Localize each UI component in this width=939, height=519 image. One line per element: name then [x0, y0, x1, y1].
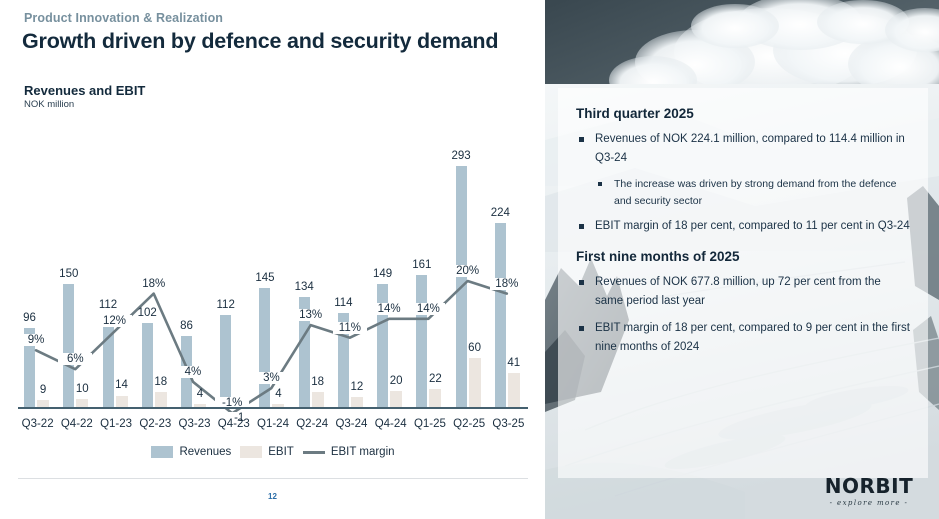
legend-swatch-ebit-margin-icon	[303, 451, 325, 454]
norbit-logo: NORBIT - explore more -	[813, 476, 925, 507]
revenue-bar	[416, 275, 427, 407]
revenue-value-label: 145	[249, 273, 281, 285]
logo-tagline: - explore more -	[813, 499, 925, 507]
chart-unit-label: NOK million	[24, 99, 74, 110]
revenue-value-label: 102	[131, 308, 163, 320]
ebit-value-label: 18	[302, 377, 334, 389]
right-image-pane: Third quarter 2025Revenues of NOK 224.1 …	[545, 0, 939, 519]
legend-item-revenues: Revenues	[151, 446, 231, 458]
ebit-bar	[508, 373, 520, 407]
legend-swatch-revenues-icon	[151, 446, 173, 458]
ebit-margin-label: 3%	[254, 372, 288, 384]
bullet-item: EBIT margin of 18 per cent, compared to …	[576, 319, 910, 356]
revenues-ebit-chart: 9699%150106%1121412%1021818%8644%112-1-1…	[18, 120, 528, 480]
summary-text-panel: Third quarter 2025Revenues of NOK 224.1 …	[558, 88, 928, 478]
bullet-item: Revenues of NOK 224.1 million, compared …	[576, 130, 910, 167]
ebit-bar	[76, 399, 88, 407]
left-content-pane: Product Innovation & Realization Growth …	[0, 0, 545, 519]
sub-bullet-item: The increase was driven by strong demand…	[576, 176, 910, 210]
revenue-value-label: 86	[170, 321, 202, 333]
revenue-bar	[456, 166, 467, 407]
revenue-value-label: 134	[288, 282, 320, 294]
x-axis-tick-q3-24: Q3-24	[329, 418, 373, 430]
page-number: 12	[0, 492, 545, 501]
ebit-margin-label: 20%	[451, 265, 485, 277]
chart-axis-line	[18, 407, 528, 409]
ebit-value-label: 4	[262, 389, 294, 401]
ebit-value-label: 20	[380, 376, 412, 388]
revenue-value-label: 112	[210, 300, 242, 312]
ebit-bar	[351, 397, 363, 407]
chart-plot-area: 9699%150106%1121412%1021818%8644%112-1-1…	[18, 120, 528, 412]
revenue-value-label: 112	[92, 300, 124, 312]
x-axis-tick-q3-23: Q3-23	[173, 418, 217, 430]
chart-x-axis-labels: Q3-22Q4-22Q1-23Q2-23Q3-23Q4-23Q1-24Q2-24…	[18, 418, 528, 436]
revenue-value-label: 150	[53, 269, 85, 281]
revenue-bar	[103, 315, 114, 407]
revenue-value-label: 149	[367, 269, 399, 281]
ebit-value-label: 4	[184, 389, 216, 401]
bullet-item: Revenues of NOK 677.8 million, up 72 per…	[576, 273, 910, 310]
revenue-value-label: 96	[14, 313, 46, 325]
x-axis-tick-q4-24: Q4-24	[369, 418, 413, 430]
ebit-value-label: 9	[27, 385, 59, 397]
revenue-bar	[220, 315, 231, 407]
x-axis-tick-q4-22: Q4-22	[55, 418, 99, 430]
x-axis-tick-q2-25: Q2-25	[447, 418, 491, 430]
x-axis-tick-q4-23: Q4-23	[212, 418, 256, 430]
revenue-bar	[142, 323, 153, 407]
ebit-value-label: 60	[459, 343, 491, 355]
x-axis-tick-q3-22: Q3-22	[16, 418, 60, 430]
x-axis-tick-q2-23: Q2-23	[133, 418, 177, 430]
bullet-list: Revenues of NOK 224.1 million, compared …	[576, 130, 910, 236]
ebit-margin-label: 4%	[176, 366, 210, 378]
ebit-value-label: 22	[419, 374, 451, 386]
legend-label-ebit: EBIT	[268, 446, 294, 458]
legend-item-ebit-margin: EBIT margin	[303, 446, 395, 458]
x-axis-tick-q2-24: Q2-24	[290, 418, 334, 430]
legend-item-ebit: EBIT	[240, 446, 294, 458]
ebit-value-label: 14	[106, 380, 138, 392]
chart-title: Revenues and EBIT	[24, 83, 145, 98]
logo-wordmark: NORBIT	[813, 476, 925, 496]
ebit-value-label: 10	[66, 384, 98, 396]
ebit-margin-label: 12%	[98, 315, 132, 327]
revenue-value-label: 224	[484, 208, 516, 220]
revenue-value-label: 161	[406, 260, 438, 272]
section-heading: First nine months of 2025	[576, 249, 910, 264]
section-heading: Third quarter 2025	[576, 106, 910, 121]
revenue-value-label: 293	[445, 151, 477, 163]
ebit-margin-label: 11%	[333, 322, 367, 334]
ebit-value-label: 41	[498, 358, 530, 370]
ebit-bar	[37, 400, 49, 407]
revenue-value-label: 114	[327, 298, 359, 310]
slide-root: Product Innovation & Realization Growth …	[0, 0, 939, 519]
legend-label-revenues: Revenues	[179, 446, 231, 458]
revenue-bar	[495, 223, 506, 407]
ebit-margin-label: 6%	[58, 353, 92, 365]
chart-legend: Revenues EBIT EBIT margin	[18, 442, 528, 462]
ebit-margin-label: 9%	[19, 334, 53, 346]
x-axis-tick-q1-24: Q1-24	[251, 418, 295, 430]
bullet-item: EBIT margin of 18 per cent, compared to …	[576, 217, 910, 236]
x-axis-tick-q1-23: Q1-23	[94, 418, 138, 430]
ebit-bar	[390, 391, 402, 407]
ebit-value-label: 18	[145, 377, 177, 389]
ebit-margin-label: 14%	[411, 303, 445, 315]
ebit-bar	[312, 392, 324, 407]
ebit-margin-label: 13%	[294, 309, 328, 321]
x-axis-tick-q3-25: Q3-25	[486, 418, 530, 430]
x-axis-tick-q1-25: Q1-25	[408, 418, 452, 430]
ebit-margin-label: 18%	[137, 278, 171, 290]
legend-label-ebit-margin: EBIT margin	[331, 446, 395, 458]
page-title: Growth driven by defence and security de…	[22, 29, 498, 54]
ebit-margin-label: 14%	[372, 303, 406, 315]
ebit-bar	[429, 389, 441, 407]
ebit-margin-label: 18%	[490, 278, 524, 290]
ebit-bar	[469, 358, 481, 407]
ebit-bar	[116, 396, 128, 408]
footer-divider	[18, 478, 528, 479]
legend-swatch-ebit-icon	[240, 446, 262, 458]
eyebrow-label: Product Innovation & Realization	[24, 11, 223, 25]
ebit-value-label: 12	[341, 382, 373, 394]
ebit-bar	[155, 392, 167, 407]
bullet-list: Revenues of NOK 677.8 million, up 72 per…	[576, 273, 910, 357]
